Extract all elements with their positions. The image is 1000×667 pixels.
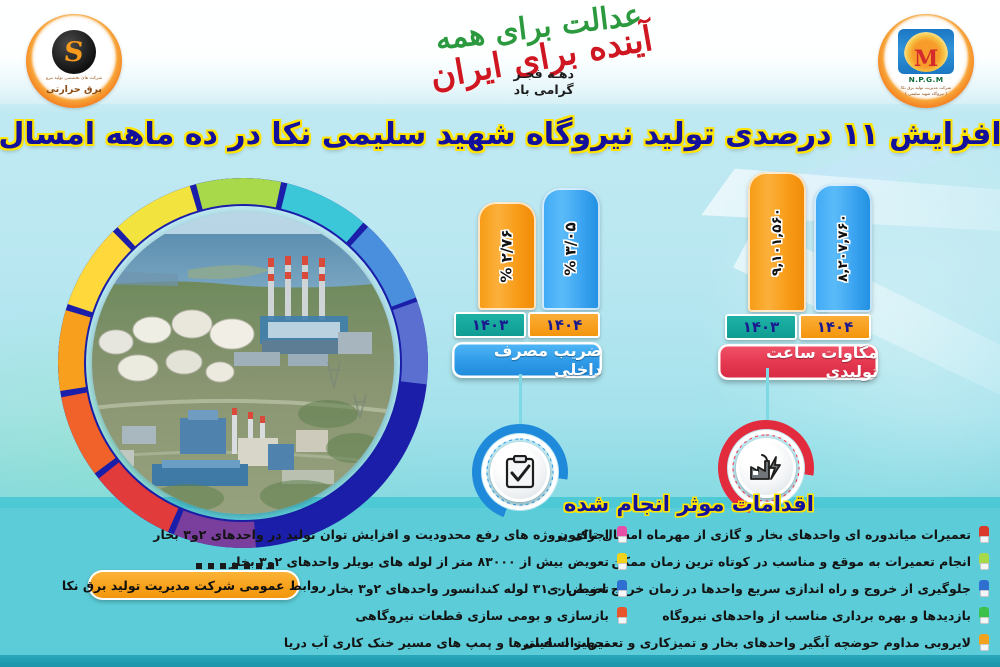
year-chip-1404-internal: ۱۴۰۴ (528, 312, 600, 338)
npgm-acronym: N.P.G.M (909, 75, 944, 84)
year-chips-generated-mwh: ۱۴۰۴ ۱۴۰۳ (718, 314, 878, 340)
action-text: بازسازی و بومی سازی قطعات نیروگاهی (355, 609, 609, 623)
fajr-line-2: گرامی باد (513, 82, 574, 98)
logo-thermal-power: S شرکت های تخصصی تولید نیرو برق حرارتی (26, 14, 122, 108)
pin-icon (978, 553, 990, 571)
pin-icon (978, 526, 990, 544)
header: S شرکت های تخصصی تولید نیرو برق حرارتی M… (0, 0, 1000, 110)
year-chip-1403-mwh: ۱۴۰۳ (725, 314, 797, 340)
connector-line-mwh (766, 368, 769, 422)
logo-subtitle: شرکت های تخصصی تولید نیرو (46, 76, 102, 81)
year-chip-1404-mwh: ۱۴۰۴ (799, 314, 871, 340)
npgm-name: شرکت مدیریت تولید برق نکا (901, 85, 951, 90)
bar-value-1404-mwh: ۹,۱۰۱,۵۶۰ (769, 208, 785, 276)
list-item: اجرای پروژه های رفع محدودیت و افزایش توا… (245, 521, 630, 548)
list-item: انجام تعمیرات به موقع و مناسب در کوتاه ت… (632, 548, 992, 575)
metric-label-generated-mwh: مگاوات ساعت تولیدی (718, 344, 878, 380)
bar-1404-internal-consumption: ۲/۷۶ % (478, 202, 536, 310)
action-text: اجرای پروژه های رفع محدودیت و افزایش توا… (153, 528, 609, 542)
page-title: افزایش ۱۱ درصدی تولید نیروگاه شهید سلیمی… (0, 108, 1000, 160)
fajr-line-1: دهـه فجـر (513, 66, 574, 82)
plant-photo-illustration (92, 212, 394, 514)
clipboard-check-icon (504, 455, 536, 489)
bar-pair-generated-mwh: ۸,۲۰۷,۷۶۰ ۹,۱۰۱,۵۶۰ (718, 172, 878, 312)
year-chips-internal-consumption: ۱۴۰۴ ۱۴۰۳ (452, 312, 602, 338)
logo-mark-letter: S (63, 39, 85, 66)
year-chip-1403-internal: ۱۴۰۳ (454, 312, 526, 338)
bar-value-1403-mwh: ۸,۲۰۷,۷۶۰ (835, 214, 851, 282)
pin-icon (978, 634, 990, 652)
list-item: بازسازی و بومی سازی قطعات نیروگاهی (245, 602, 630, 629)
pin-icon (616, 580, 628, 598)
power-plant-bolt-icon (749, 453, 783, 483)
list-item: لایروبی مداوم حوضچه آبگیر واحدهای بخار و… (632, 629, 992, 656)
infographic-canvas: S شرکت های تخصصی تولید نیرو برق حرارتی M… (0, 0, 1000, 667)
thermal-power-mark-icon: S (52, 30, 96, 74)
public-relations-badge: روابط عمومی شرکت مدیریت تولید برق نکا (88, 570, 300, 600)
bar-1403-generated-mwh: ۸,۲۰۷,۷۶۰ (814, 184, 872, 312)
icon-medallion-internal-consumption (472, 424, 568, 520)
pin-icon (616, 553, 628, 571)
actions-column-right: تعمیرات میاندوره ای واحدهای بخار و گازی … (632, 521, 992, 656)
pin-icon (978, 607, 990, 625)
plant-photo-ring (58, 178, 428, 548)
logo-npgm: M N.P.G.M شرکت مدیریت تولید برق نکا ( نی… (878, 14, 974, 108)
plant-aerial-photo (92, 212, 394, 514)
action-text: بازدیدها و بهره برداری مناسب از واحدهای … (662, 609, 971, 623)
metric-internal-consumption: ۳/۰۵ % ۲/۷۶ % ۱۴۰۴ ۱۴۰۳ ضریب مصرف داخلی (452, 180, 602, 378)
action-text: تجهیزات فیلترها و پمپ های مسیر خنک کاری … (284, 636, 609, 650)
npgm-emblem-icon: M (898, 29, 954, 74)
list-item: تعمیرات میاندوره ای واحدهای بخار و گازی … (632, 521, 992, 548)
npgm-mark-letter: M (914, 50, 938, 70)
bar-value-1403-internal: ۳/۰۵ % (562, 222, 580, 275)
metric-label-internal-consumption: ضریب مصرف داخلی (452, 342, 602, 378)
bar-1404-generated-mwh: ۹,۱۰۱,۵۶۰ (748, 172, 806, 312)
pin-icon (616, 526, 628, 544)
list-item: تعویض بیش از ۸۳۰۰۰ متر از لوله های بویلر… (245, 548, 630, 575)
connector-line-internal (519, 374, 522, 426)
logo-name: برق حرارتی (46, 84, 102, 95)
npgm-subtitle: ( نیروگاه شهید سلیمی ) (905, 91, 947, 96)
fajr-greeting: دهـه فجـر گرامی باد (513, 66, 574, 97)
action-text: انجام تعمیرات به موقع و مناسب در کوتاه ت… (612, 555, 971, 569)
bar-pair-internal-consumption: ۳/۰۵ % ۲/۷۶ % (452, 180, 602, 310)
actions-section-title: اقدامات موثر انجام شده (564, 492, 814, 516)
list-item: بازدیدها و بهره برداری مناسب از واحدهای … (632, 602, 992, 629)
action-text: تعویض بیش از ۸۳۰۰۰ متر از لوله های بویلر… (229, 555, 609, 569)
anniversary-slogan: عدالت برای همه آینده برای ایران دهـه فجـ… (340, 8, 660, 104)
bar-value-1404-internal: ۲/۷۶ % (498, 229, 516, 282)
list-item: تجهیزات فیلترها و پمپ های مسیر خنک کاری … (245, 629, 630, 656)
metric-generated-mwh: ۸,۲۰۷,۷۶۰ ۹,۱۰۱,۵۶۰ ۱۴۰۴ ۱۴۰۳ مگاوات ساع… (718, 172, 878, 380)
list-item: جلوگیری از خروج و راه اندازی سریع واحدها… (632, 575, 992, 602)
action-text: تعویض ۳۱۰۰ لوله کندانسور واحدهای ۲و۳ بخا… (328, 582, 609, 596)
bar-1403-internal-consumption: ۳/۰۵ % (542, 188, 600, 310)
footer-dotted-line (196, 563, 278, 569)
pin-icon (978, 580, 990, 598)
pin-icon (616, 607, 628, 625)
